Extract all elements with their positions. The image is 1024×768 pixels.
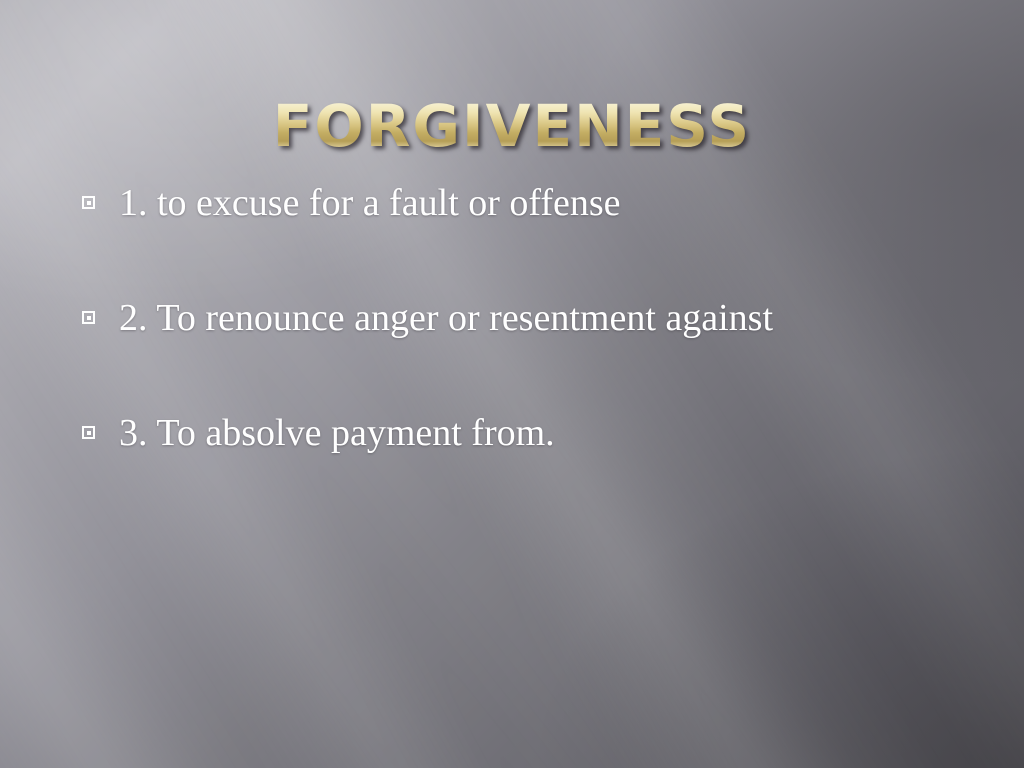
list-item: 1. to excuse for a fault or offense [82, 183, 962, 298]
list-item: 2. To renounce anger or resentment again… [82, 298, 962, 413]
bullet-text: 2. To renounce anger or resentment again… [119, 298, 962, 338]
bullet-text: 1. to excuse for a fault or offense [119, 183, 962, 223]
square-bullet-icon [82, 196, 95, 209]
bullet-list: 1. to excuse for a fault or offense 2. T… [82, 183, 962, 528]
slide-content: FORGIVENESS 1. to excuse for a fault or … [0, 0, 1024, 768]
bullet-text: 3. To absolve payment from. [119, 413, 962, 453]
slide-title: FORGIVENESS [0, 97, 1024, 155]
square-bullet-icon [82, 426, 95, 439]
list-item: 3. To absolve payment from. [82, 413, 962, 528]
square-bullet-icon [82, 311, 95, 324]
presentation-slide: FORGIVENESS 1. to excuse for a fault or … [0, 0, 1024, 768]
